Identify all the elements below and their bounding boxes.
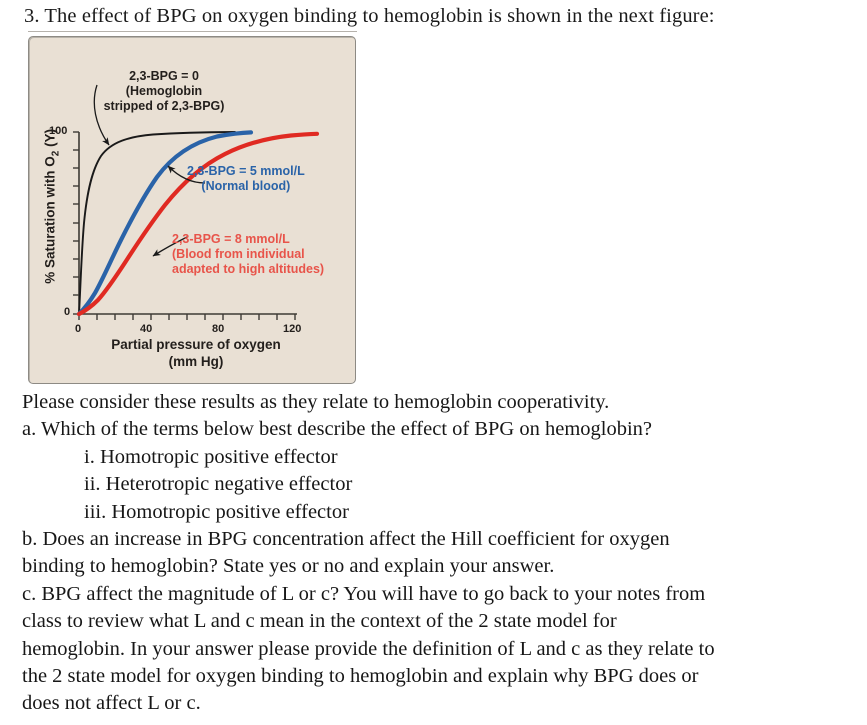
annotation-bpg-8: 2,3-BPG = 8 mmol/L (Blood from individua… (172, 232, 324, 277)
page-title: 3. The effect of BPG on oxygen binding t… (24, 2, 715, 30)
x-axis-title-line1: Partial pressure of oxygen (51, 336, 341, 353)
intro-line: Please consider these results as they re… (22, 389, 852, 416)
x-axis-ticks (79, 314, 295, 320)
question-body: Please consider these results as they re… (22, 389, 852, 718)
annotation-bpg-8-line2: (Blood from individual (172, 247, 324, 262)
x-tick-label-0: 0 (75, 323, 81, 335)
part-c-line4: the 2 state model for oxygen binding to … (22, 663, 852, 690)
annotation-bpg-8-line1: 2,3-BPG = 8 mmol/L (172, 232, 324, 247)
y-tick-label-0: 0 (64, 306, 70, 318)
annotation-bpg-0-line1: 2,3-BPG = 0 (69, 69, 259, 84)
x-tick-label-80: 80 (212, 323, 224, 335)
x-tick-label-120: 120 (283, 323, 301, 335)
plot-area: 100 0 0 40 80 120 % Saturation with O2 (… (29, 37, 355, 383)
option-iii: iii. Homotropic positive effector (22, 499, 852, 526)
annotation-bpg-8-line3: adapted to high altitudes) (172, 262, 324, 277)
x-axis-title: Partial pressure of oxygen (mm Hg) (51, 336, 341, 370)
y-axis-title-subscript: 2 (50, 151, 61, 157)
part-c-line1: c. BPG affect the magnitude of L or c? Y… (22, 581, 852, 608)
y-axis-title-main: % Saturation with O (43, 156, 58, 284)
y-axis-title: % Saturation with O2 (Y) (43, 111, 62, 301)
part-c-line2: class to review what L and c mean in the… (22, 608, 852, 635)
annotation-bpg-0-line3: stripped of 2,3-BPG) (69, 99, 259, 114)
figure-top-rule (28, 31, 357, 32)
part-a-question: a. Which of the terms below best describ… (22, 416, 852, 443)
x-axis-title-line2: (mm Hg) (51, 353, 341, 370)
option-ii: ii. Heterotropic negative effector (22, 471, 852, 498)
y-axis-ticks (73, 132, 79, 314)
option-i: i. Homotropic positive effector (22, 444, 852, 471)
part-b-line1: b. Does an increase in BPG concentration… (22, 526, 852, 553)
x-tick-label-40: 40 (140, 323, 152, 335)
curve-bpg-8 (79, 134, 317, 314)
part-c-line3: hemoglobin. In your answer please provid… (22, 636, 852, 663)
figure-panel: 100 0 0 40 80 120 % Saturation with O2 (… (28, 36, 356, 384)
part-c-line5: does not affect L or c. (22, 690, 852, 717)
annotation-bpg-5-line1: 2,3-BPG = 5 mmol/L (187, 164, 305, 179)
curve-bpg-5 (79, 132, 251, 314)
part-b-line2: binding to hemoglobin? State yes or no a… (22, 553, 852, 580)
annotation-bpg-5-line2: (Normal blood) (187, 179, 305, 194)
annotation-bpg-5: 2,3-BPG = 5 mmol/L (Normal blood) (187, 164, 305, 194)
annotation-bpg-0-line2: (Hemoglobin (69, 84, 259, 99)
y-axis-title-suffix: (Y) (43, 129, 58, 151)
annotation-bpg-0: 2,3-BPG = 0 (Hemoglobin stripped of 2,3-… (69, 69, 259, 114)
